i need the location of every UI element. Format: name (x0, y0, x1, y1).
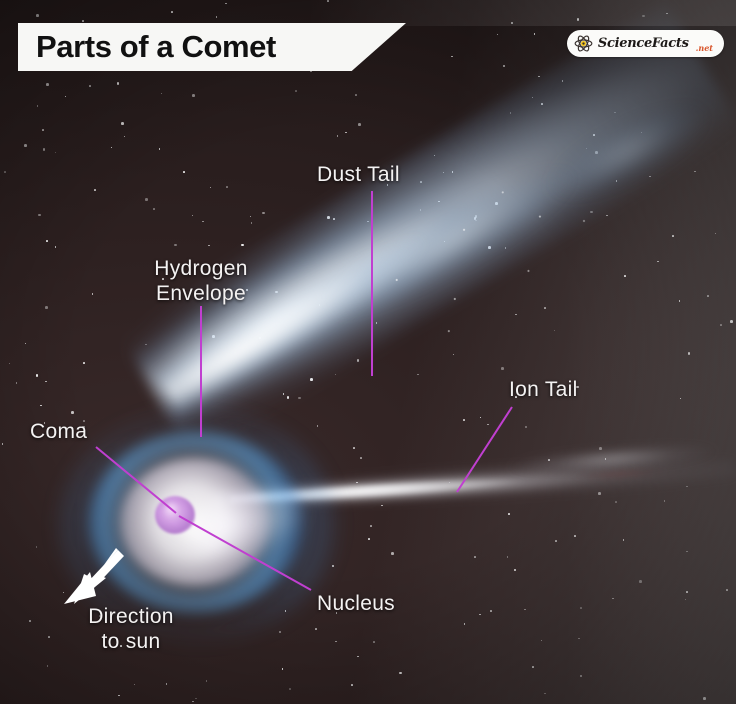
label-hydrogen-envelope: HydrogenEnvelope (51, 257, 351, 307)
coma-shape (120, 458, 270, 586)
label-direction-to-sun-line-1: Direction (0, 605, 281, 630)
label-ion-tail-line-1: Ion Tail (509, 378, 578, 403)
comet-diagram-canvas: Parts of a Comet ScienceFacts .net Dust … (0, 0, 736, 704)
sciencefacts-logo[interactable]: ScienceFacts .net (567, 30, 724, 57)
label-hydrogen-envelope-line-1: Hydrogen (51, 257, 351, 282)
logo-name: ScienceFacts (598, 36, 689, 51)
label-dust-tail-line-1: Dust Tail (317, 163, 400, 188)
page-title: Parts of a Comet (36, 29, 276, 65)
label-nucleus-line-1: Nucleus (317, 592, 395, 617)
label-direction-to-sun: Directionto sun (0, 605, 281, 655)
label-dust-tail: Dust Tail (317, 163, 400, 188)
label-direction-to-sun-line-2: to sun (0, 630, 281, 655)
logo-tld: .net (696, 43, 713, 53)
nucleus-highlight (164, 503, 179, 517)
label-coma: Coma (30, 420, 87, 445)
title-banner: Parts of a Comet (18, 23, 406, 71)
atom-icon (574, 34, 593, 53)
direction-to-sun-arrow-icon (56, 546, 126, 608)
label-coma-line-1: Coma (30, 420, 87, 445)
label-hydrogen-envelope-line-2: Envelope (51, 282, 351, 307)
label-nucleus: Nucleus (317, 592, 395, 617)
label-ion-tail: Ion Tail (509, 378, 578, 403)
